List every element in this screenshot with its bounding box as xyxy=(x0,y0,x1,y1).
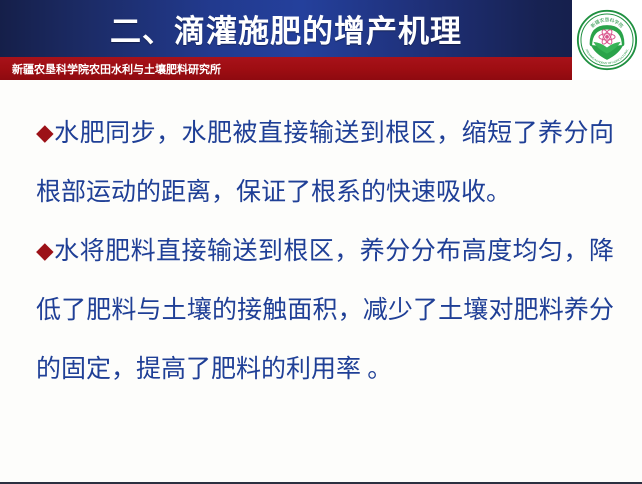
bullet-paragraph-2: ◆水将肥料直接输送到根区，养分分布高度均匀，降低了肥料与土壤的接触面积，减少了土… xyxy=(36,222,614,399)
presentation-slide: 二、滴灌施肥的增产机理 新疆农垦科学院农田水利与土壤肥料研究所 新疆农垦科学院 xyxy=(0,0,642,484)
page-title: 二、滴灌施肥的增产机理 xyxy=(0,0,572,57)
diamond-bullet-icon: ◆ xyxy=(36,239,54,262)
organization-label: 新疆农垦科学院农田水利与土壤肥料研究所 xyxy=(12,58,221,79)
bullet-text-2: 水将肥料直接输送到根区，养分分布高度均匀，降低了肥料与土壤的接触面积，减少了土壤… xyxy=(36,238,614,383)
slide-body: ◆水肥同步，水肥被直接输送到根区，缩短了养分向根部运动的距离，保证了根系的快速吸… xyxy=(0,82,642,482)
academy-emblem-icon: 新疆农垦科学院 XINJIANG ACADEMY OF AGRICULTURAL xyxy=(576,9,638,71)
diamond-bullet-icon: ◆ xyxy=(36,121,54,144)
bullet-text-1: 水肥同步，水肥被直接输送到根区，缩短了养分向根部运动的距离，保证了根系的快速吸收… xyxy=(36,120,614,206)
logo-container: 新疆农垦科学院 XINJIANG ACADEMY OF AGRICULTURAL xyxy=(572,0,642,80)
bullet-paragraph-1: ◆水肥同步，水肥被直接输送到根区，缩短了养分向根部运动的距离，保证了根系的快速吸… xyxy=(36,104,614,222)
slide-header: 二、滴灌施肥的增产机理 新疆农垦科学院农田水利与土壤肥料研究所 新疆农垦科学院 xyxy=(0,0,642,82)
